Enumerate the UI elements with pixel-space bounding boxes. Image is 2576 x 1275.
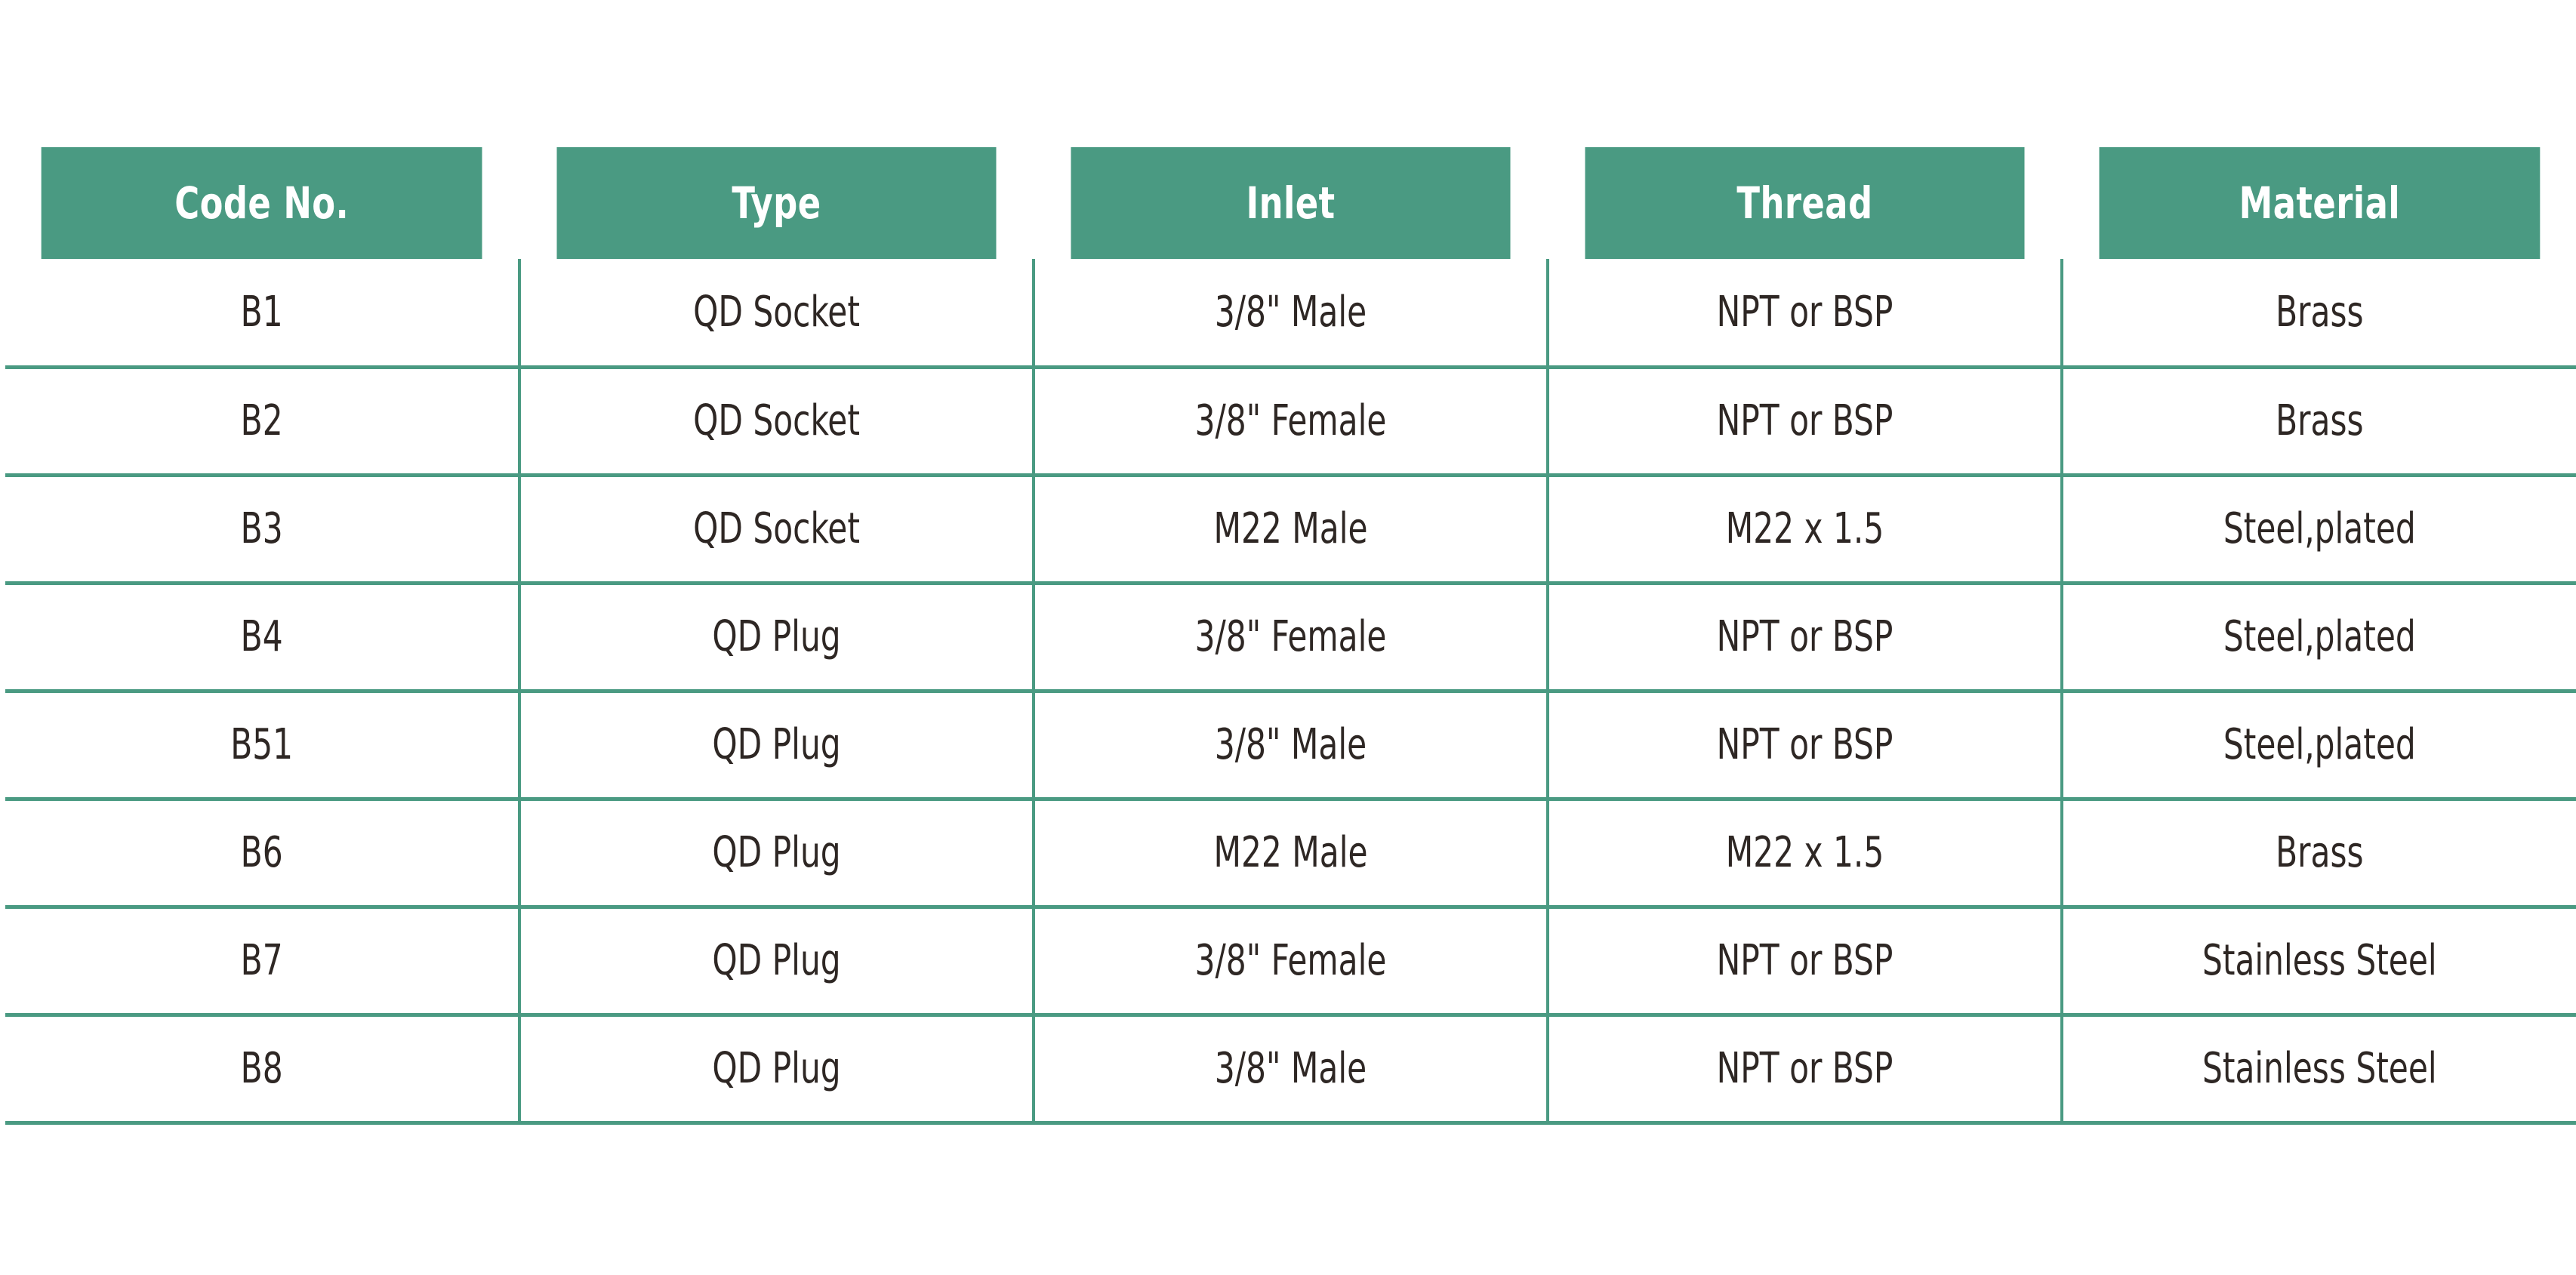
table-row: B2 QD Socket 3/8" Female NPT or BSP Bras… — [5, 367, 2576, 475]
cell-value: QD Plug — [712, 1044, 840, 1093]
cell-value: B3 — [241, 504, 283, 553]
cell-value: NPT or BSP — [1717, 396, 1893, 445]
cell-value: B7 — [241, 936, 283, 985]
cell-value: M22 Male — [1213, 828, 1367, 877]
cell-value: 3/8" Male — [1215, 720, 1367, 769]
table-row: B1 QD Socket 3/8" Male NPT or BSP Brass — [5, 259, 2576, 367]
cell-material: Brass — [2103, 259, 2534, 367]
cell-type: QD Plug — [560, 907, 992, 1015]
cell-type: QD Socket — [560, 475, 992, 583]
cell-inlet: 3/8" Male — [1074, 1015, 1506, 1123]
cell-code-no: B8 — [46, 1015, 478, 1123]
cell-type: QD Plug — [560, 1015, 992, 1123]
cell-material: Brass — [2103, 367, 2534, 475]
column-header-label: Inlet — [1246, 177, 1335, 229]
table-body: B1 QD Socket 3/8" Male NPT or BSP Brass … — [5, 259, 2576, 1123]
table-row: B8 QD Plug 3/8" Male NPT or BSP Stainles… — [5, 1015, 2576, 1123]
cell-type: QD Plug — [560, 799, 992, 907]
cell-code-no: B4 — [46, 583, 478, 691]
cell-value: B1 — [241, 288, 283, 337]
column-header-label: Material — [2239, 177, 2400, 229]
cell-value: QD Plug — [712, 936, 840, 985]
header-row: Code No. Type Inlet Thread Material — [5, 147, 2576, 259]
cell-inlet: 3/8" Female — [1074, 907, 1506, 1015]
cell-value: M22 x 1.5 — [1726, 828, 1884, 877]
column-header-code-no: Code No. — [42, 147, 484, 259]
cell-code-no: B51 — [46, 691, 478, 799]
cell-value: M22 x 1.5 — [1726, 504, 1884, 553]
cell-value: QD Plug — [712, 612, 840, 661]
cell-thread: M22 x 1.5 — [1588, 799, 2020, 907]
cell-value: B4 — [241, 612, 283, 661]
cell-inlet: 3/8" Female — [1074, 583, 1506, 691]
cell-value: Brass — [2276, 288, 2363, 337]
column-header-label: Type — [732, 177, 821, 229]
cell-material: Steel,plated — [2103, 475, 2534, 583]
table-row: B4 QD Plug 3/8" Female NPT or BSP Steel,… — [5, 583, 2576, 691]
cell-value: Stainless Steel — [2202, 936, 2437, 985]
cell-value: NPT or BSP — [1717, 1044, 1893, 1093]
table-row: B7 QD Plug 3/8" Female NPT or BSP Stainl… — [5, 907, 2576, 1015]
column-header-type: Type — [556, 147, 998, 259]
cell-code-no: B1 — [46, 259, 478, 367]
cell-value: Steel,plated — [2223, 720, 2416, 769]
cell-code-no: B7 — [46, 907, 478, 1015]
cell-value: Brass — [2276, 396, 2363, 445]
cell-value: Steel,plated — [2223, 612, 2416, 661]
cell-value: B2 — [241, 396, 283, 445]
cell-code-no: B2 — [46, 367, 478, 475]
cell-type: QD Socket — [560, 259, 992, 367]
cell-value: QD Socket — [693, 396, 860, 445]
spec-table: Code No. Type Inlet Thread Material B1 Q… — [5, 147, 2576, 1125]
cell-thread: NPT or BSP — [1588, 907, 2020, 1015]
cell-thread: NPT or BSP — [1588, 1015, 2020, 1123]
cell-value: B51 — [230, 720, 293, 769]
cell-inlet: M22 Male — [1074, 475, 1506, 583]
cell-value: Steel,plated — [2223, 504, 2416, 553]
cell-code-no: B6 — [46, 799, 478, 907]
cell-value: 3/8" Female — [1195, 612, 1387, 661]
cell-value: NPT or BSP — [1717, 936, 1893, 985]
column-header-material: Material — [2098, 147, 2541, 259]
column-header-thread: Thread — [1584, 147, 2026, 259]
cell-thread: NPT or BSP — [1588, 583, 2020, 691]
cell-type: QD Plug — [560, 691, 992, 799]
cell-value: B8 — [241, 1044, 283, 1093]
cell-value: B6 — [241, 828, 283, 877]
cell-value: QD Socket — [693, 504, 860, 553]
cell-thread: NPT or BSP — [1588, 691, 2020, 799]
page-root: Code No. Type Inlet Thread Material B1 Q… — [0, 0, 2576, 1275]
cell-value: Brass — [2276, 828, 2363, 877]
cell-value: 3/8" Male — [1215, 1044, 1367, 1093]
cell-value: NPT or BSP — [1717, 288, 1893, 337]
cell-thread: NPT or BSP — [1588, 367, 2020, 475]
cell-material: Steel,plated — [2103, 583, 2534, 691]
cell-type: QD Plug — [560, 583, 992, 691]
cell-inlet: M22 Male — [1074, 799, 1506, 907]
cell-value: 3/8" Male — [1215, 288, 1367, 337]
table-row: B6 QD Plug M22 Male M22 x 1.5 Brass — [5, 799, 2576, 907]
cell-thread: M22 x 1.5 — [1588, 475, 2020, 583]
cell-inlet: 3/8" Female — [1074, 367, 1506, 475]
column-header-label: Thread — [1736, 177, 1872, 229]
cell-material: Brass — [2103, 799, 2534, 907]
cell-value: Stainless Steel — [2202, 1044, 2437, 1093]
cell-code-no: B3 — [46, 475, 478, 583]
cell-value: NPT or BSP — [1717, 612, 1893, 661]
column-header-inlet: Inlet — [1070, 147, 1512, 259]
cell-value: QD Plug — [712, 828, 840, 877]
cell-value: 3/8" Female — [1195, 396, 1387, 445]
cell-material: Stainless Steel — [2103, 1015, 2534, 1123]
cell-thread: NPT or BSP — [1588, 259, 2020, 367]
cell-value: QD Socket — [693, 288, 860, 337]
cell-material: Steel,plated — [2103, 691, 2534, 799]
cell-value: 3/8" Female — [1195, 936, 1387, 985]
table-header: Code No. Type Inlet Thread Material — [5, 147, 2576, 259]
cell-inlet: 3/8" Male — [1074, 691, 1506, 799]
cell-inlet: 3/8" Male — [1074, 259, 1506, 367]
cell-value: NPT or BSP — [1717, 720, 1893, 769]
cell-material: Stainless Steel — [2103, 907, 2534, 1015]
table-row: B3 QD Socket M22 Male M22 x 1.5 Steel,pl… — [5, 475, 2576, 583]
cell-value: QD Plug — [712, 720, 840, 769]
table-row: B51 QD Plug 3/8" Male NPT or BSP Steel,p… — [5, 691, 2576, 799]
cell-value: M22 Male — [1213, 504, 1367, 553]
cell-type: QD Socket — [560, 367, 992, 475]
column-header-label: Code No. — [174, 177, 349, 229]
